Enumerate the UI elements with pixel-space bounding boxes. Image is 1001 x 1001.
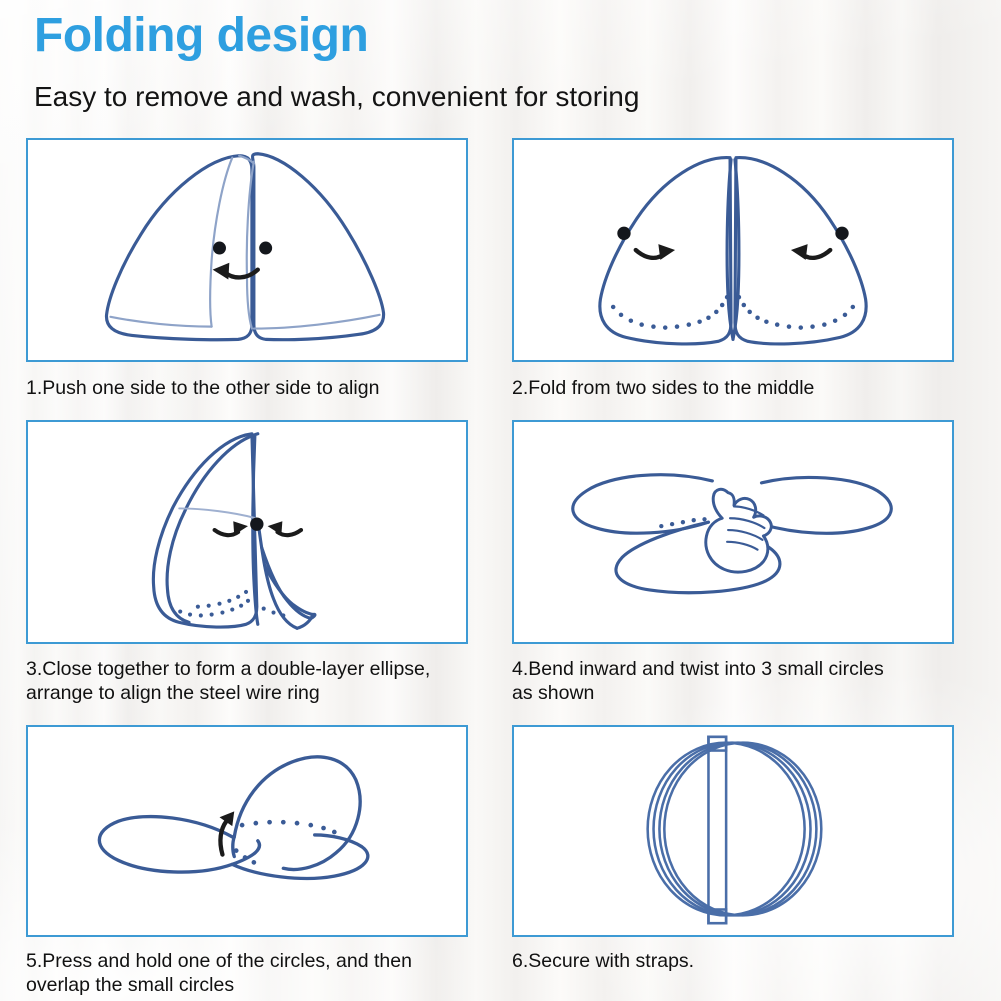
folding-instruction-poster: Folding design Easy to remove and wash, … xyxy=(0,0,1001,1001)
arrow-left xyxy=(268,521,301,535)
step-cell-3: 3.Close together to form a double-layer … xyxy=(26,420,468,706)
page-subtitle: Easy to remove and wash, convenient for … xyxy=(34,82,639,113)
step-caption-2: 2.Fold from two sides to the middle xyxy=(512,376,954,401)
step-caption-3: 3.Close together to form a double-layer … xyxy=(26,657,468,706)
steps-row-3: 5.Press and hold one of the circles, and… xyxy=(26,725,955,998)
marker-dot xyxy=(213,242,226,255)
steps-row-2: 3.Close together to form a double-layer … xyxy=(26,420,955,706)
step-illustration-2 xyxy=(512,138,954,362)
dotted-hem-left xyxy=(611,295,729,330)
step-illustration-6 xyxy=(512,725,954,937)
step-illustration-1 xyxy=(26,138,468,362)
step-cell-1: 1.Push one side to the other side to ali… xyxy=(26,138,468,401)
step-caption-4: 4.Bend inward and twist into 3 small cir… xyxy=(512,657,954,706)
step-cell-5: 5.Press and hold one of the circles, and… xyxy=(26,725,468,998)
stacked-rings xyxy=(648,742,822,915)
step-cell-2: 2.Fold from two sides to the middle xyxy=(512,138,954,401)
marker-dot xyxy=(835,227,848,240)
step-illustration-3 xyxy=(26,420,468,644)
strap xyxy=(708,736,726,922)
marker-dot xyxy=(259,242,272,255)
dotted-hem-right xyxy=(737,295,855,330)
step-illustration-4 xyxy=(512,420,954,644)
step-cell-6: 6.Secure with straps. xyxy=(512,725,954,998)
step-caption-6: 6.Secure with straps. xyxy=(512,949,954,974)
arrow-right xyxy=(215,521,248,535)
arrow-right xyxy=(636,244,675,260)
step-caption-1: 1.Push one side to the other side to ali… xyxy=(26,376,468,401)
steps-row-1: 1.Push one side to the other side to ali… xyxy=(26,138,955,401)
step-cell-4: 4.Bend inward and twist into 3 small cir… xyxy=(512,420,954,706)
page-title: Folding design xyxy=(34,12,368,60)
marker-dot xyxy=(617,227,630,240)
step-caption-5: 5.Press and hold one of the circles, and… xyxy=(26,949,468,998)
steps-grid: 1.Push one side to the other side to ali… xyxy=(26,138,955,998)
arrow-left xyxy=(791,244,830,260)
step-illustration-5 xyxy=(26,725,468,937)
dotted-hem xyxy=(178,589,285,617)
marker-dot xyxy=(250,517,263,530)
